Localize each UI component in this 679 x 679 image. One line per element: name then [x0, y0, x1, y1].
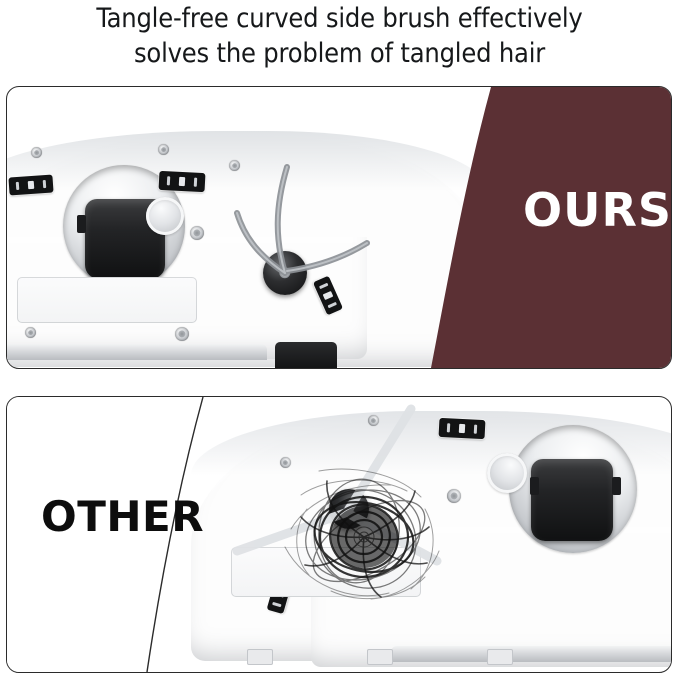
- caster-wheel-tire: [531, 459, 613, 541]
- sensor-led: [166, 176, 169, 185]
- dustbin-hatch: [17, 277, 197, 323]
- curved-side-brush: [243, 237, 244, 238]
- vacuum-bumper-strip: [391, 646, 671, 662]
- cliff-sensor-left: [8, 174, 53, 195]
- sensor-led: [16, 181, 20, 190]
- caster-wheel-tab-left: [612, 477, 621, 495]
- chassis-screw: [158, 144, 169, 155]
- side-brush-bristle-arms: [183, 139, 383, 289]
- chassis-screw: [175, 327, 189, 341]
- ours-label-panel: OURS: [411, 87, 671, 368]
- comparison-infographic: Tangle-free curved side brush effectivel…: [0, 0, 679, 679]
- drive-wheel-block: [275, 342, 337, 368]
- sensor-led: [328, 302, 337, 308]
- ours-label: OURS: [523, 187, 672, 233]
- headline-line-2: solves the problem of tangled hair: [134, 36, 545, 71]
- sensor-led: [42, 180, 46, 189]
- sensor-window: [28, 180, 35, 189]
- tangled-hair-strands: [279, 465, 449, 605]
- ours-comparison-card: OURS: [6, 86, 672, 369]
- other-label-panel: OTHER: [7, 397, 257, 672]
- vacuum-bumper-strip: [7, 344, 267, 360]
- sensor-led: [474, 424, 477, 433]
- front-caster-button: [487, 453, 527, 493]
- headline: Tangle-free curved side brush effectivel…: [0, 0, 679, 80]
- other-comparison-card: OTHER: [6, 396, 672, 673]
- chassis-screw: [25, 327, 36, 338]
- bumper-tab: [367, 649, 393, 665]
- bumper-tab: [487, 649, 513, 665]
- other-label: OTHER: [41, 496, 204, 538]
- caster-wheel-tab-right: [530, 477, 539, 495]
- front-caster-button: [146, 197, 184, 235]
- headline-line-1: Tangle-free curved side brush effectivel…: [96, 1, 582, 36]
- tangled-hair-mass: [279, 465, 449, 605]
- caster-wheel-tab-left: [77, 215, 86, 233]
- sensor-window: [323, 291, 333, 300]
- chassis-screw: [31, 147, 42, 158]
